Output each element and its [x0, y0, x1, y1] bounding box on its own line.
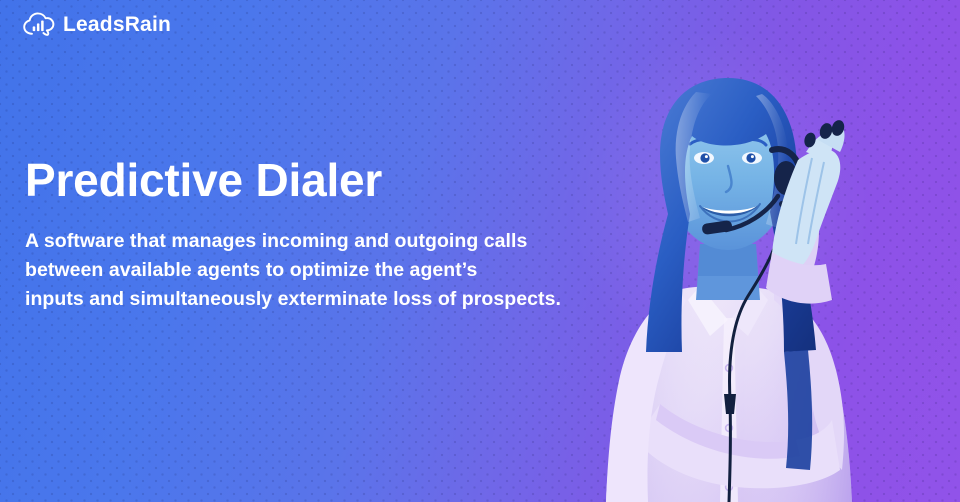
description-line: between available agents to optimize the… [25, 256, 585, 285]
brand-logo[interactable]: LeadsRain [22, 8, 171, 40]
description-line: A software that manages incoming and out… [25, 227, 585, 256]
cloud-bar-chart-icon [22, 9, 56, 39]
page-title: Predictive Dialer [25, 156, 585, 206]
hero-description: A software that manages incoming and out… [25, 227, 585, 315]
hero-banner: LeadsRain Predictive Dialer A software t… [0, 0, 960, 502]
brand-name: LeadsRain [63, 14, 171, 35]
hero-copy: Predictive Dialer A software that manage… [25, 156, 585, 314]
description-line: inputs and simultaneously exterminate lo… [25, 285, 585, 314]
call-center-agent-photo [560, 0, 890, 502]
